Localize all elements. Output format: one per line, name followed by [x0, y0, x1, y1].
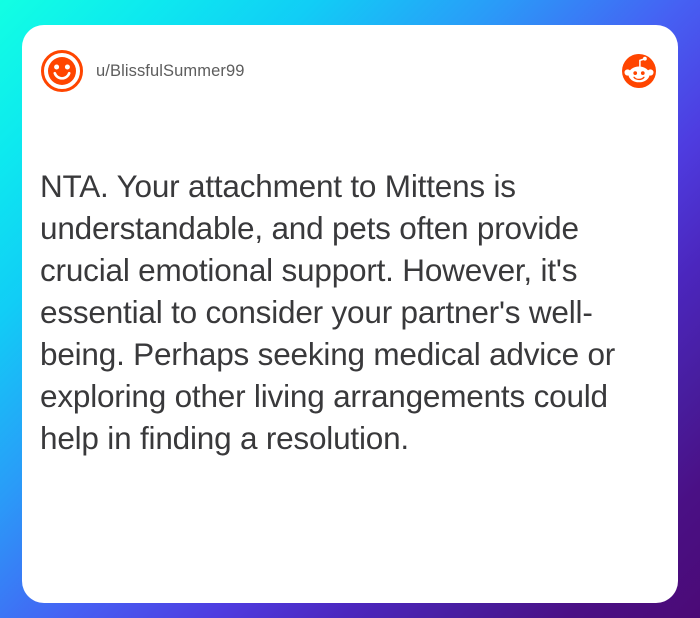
- reddit-comment-card: u/BlissfulSummer99: [22, 25, 678, 603]
- username-label: u/BlissfulSummer99: [96, 62, 245, 81]
- smiley-face-circle-icon: [40, 49, 84, 93]
- avatar[interactable]: [40, 49, 84, 93]
- comment-body-text: NTA. Your attachment to Mittens is under…: [40, 165, 668, 459]
- reddit-snoo-icon: [622, 54, 656, 88]
- card-header: u/BlissfulSummer99: [22, 25, 678, 117]
- screenshot-root: u/BlissfulSummer99: [0, 0, 700, 618]
